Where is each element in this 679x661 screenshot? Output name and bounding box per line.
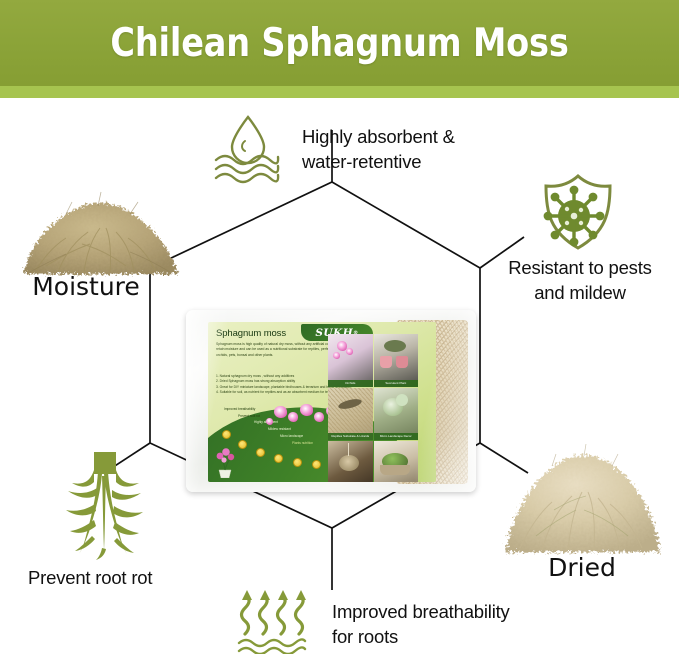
label-feature-icon xyxy=(256,448,265,457)
water-drop-waves-icon xyxy=(212,112,284,186)
label-feature-icon xyxy=(293,458,302,467)
grid-cell-succulent: Succulent Plant xyxy=(374,334,419,387)
orchid-flower xyxy=(266,418,273,425)
page-title: Chilean Sphagnum Moss xyxy=(48,0,632,86)
grid-cell-rescue-plants: Rescue Fighting Plants xyxy=(374,441,419,482)
potted-orchid-image xyxy=(214,448,236,478)
grid-orchid xyxy=(333,352,340,359)
feature-absorbent-line1: Highly absorbent & xyxy=(302,125,517,150)
label-product-title: Sphagnum moss xyxy=(216,328,286,339)
moss-pile-dried: Dried xyxy=(492,440,672,590)
label-feature-icon xyxy=(222,430,231,439)
shield-germ-icon xyxy=(536,172,620,254)
orchid-flower xyxy=(288,412,298,422)
moisture-label: Moisture xyxy=(6,272,166,301)
feature-pests-line2: and mildew xyxy=(481,281,679,306)
grid-caption: Succulent Plant xyxy=(374,380,419,387)
grid-cell-reptiles: Reptiles Substrate & Lizards xyxy=(328,388,373,441)
feature-improved-breathability: Improved breathability for roots xyxy=(233,588,563,658)
root-system-icon xyxy=(50,452,158,560)
dried-label: Dried xyxy=(492,553,672,582)
orchid-flower xyxy=(314,412,324,422)
feature-pests-label: Resistant to pests and mildew xyxy=(481,256,679,305)
moss-pile-moisture: Moisture xyxy=(6,186,206,306)
label-feature-icon xyxy=(274,454,283,463)
feature-breathability-line1: Improved breathability xyxy=(332,600,562,625)
grid-orchid xyxy=(346,348,353,355)
dried-moss-image xyxy=(492,440,672,558)
label-photo-grid: Orchids Succulent Plant Reptiles Substra… xyxy=(328,334,418,482)
grid-caption: Orchids xyxy=(328,380,373,387)
feature-highly-absorbent: Highly absorbent & water-retentive xyxy=(212,112,512,192)
feature-breathability-label: Improved breathability for roots xyxy=(332,600,562,649)
feature-resistant-to-pests: Resistant to pests and mildew xyxy=(478,172,678,302)
orchid-flower xyxy=(274,406,287,418)
feature-pests-line1: Resistant to pests xyxy=(481,256,679,281)
grid-cell-hanging-basket: Hanging Basket xyxy=(328,441,373,482)
feature-root-rot-label: Prevent root rot xyxy=(28,566,218,591)
infographic-page: Chilean Sphagnum Moss xyxy=(0,0,679,661)
rising-air-waves-icon xyxy=(233,588,317,654)
package-label: Sphagnum moss SUKH® Sphagnum moss is hig… xyxy=(208,322,436,482)
header-accent-stripe xyxy=(0,86,679,98)
grid-caption: Micro Landscape Decor xyxy=(374,433,419,440)
orchid-flower xyxy=(300,404,313,416)
feature-breathability-line2: for roots xyxy=(332,625,562,650)
product-package: Sphagnum moss SUKH® Sphagnum moss is hig… xyxy=(186,310,476,492)
label-feature-icon xyxy=(312,460,321,469)
feature-absorbent-line2: water-retentive xyxy=(302,150,517,175)
feature-absorbent-label: Highly absorbent & water-retentive xyxy=(302,125,517,174)
moisture-moss-image xyxy=(6,186,206,278)
grid-cell-orchids: Orchids xyxy=(328,334,373,387)
label-feature-icon xyxy=(238,440,247,449)
grid-cell-microlandscape: Micro Landscape Decor xyxy=(374,388,419,441)
grid-caption: Reptiles Substrate & Lizards xyxy=(328,433,373,440)
